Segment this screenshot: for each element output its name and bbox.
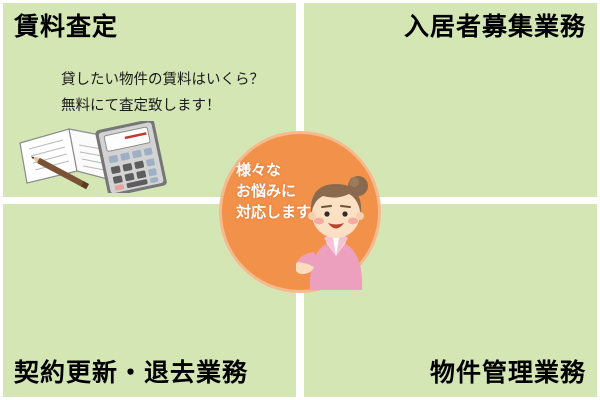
center-badge-text: 様々な お悩みに 対応します: [236, 160, 311, 223]
panel-heading-rent-appraisal: 賃料査定: [14, 14, 118, 39]
panel-heading-contract-renewal-moveout: 契約更新・退去業務: [14, 360, 248, 385]
documents-calculator-icon: [17, 121, 167, 197]
service-overview-graphic: 賃料査定 貸したい物件の賃料はいくら？ 無料にて査定致します！: [0, 0, 600, 400]
center-badge: 様々な お悩みに 対応します: [222, 134, 378, 290]
panel-body-rent-appraisal: 貸したい物件の賃料はいくら？ 無料にて査定致します！: [61, 67, 264, 119]
panel-heading-property-management: 物件管理業務: [430, 360, 586, 385]
panel-heading-tenant-recruitment: 入居者募集業務: [404, 14, 586, 39]
